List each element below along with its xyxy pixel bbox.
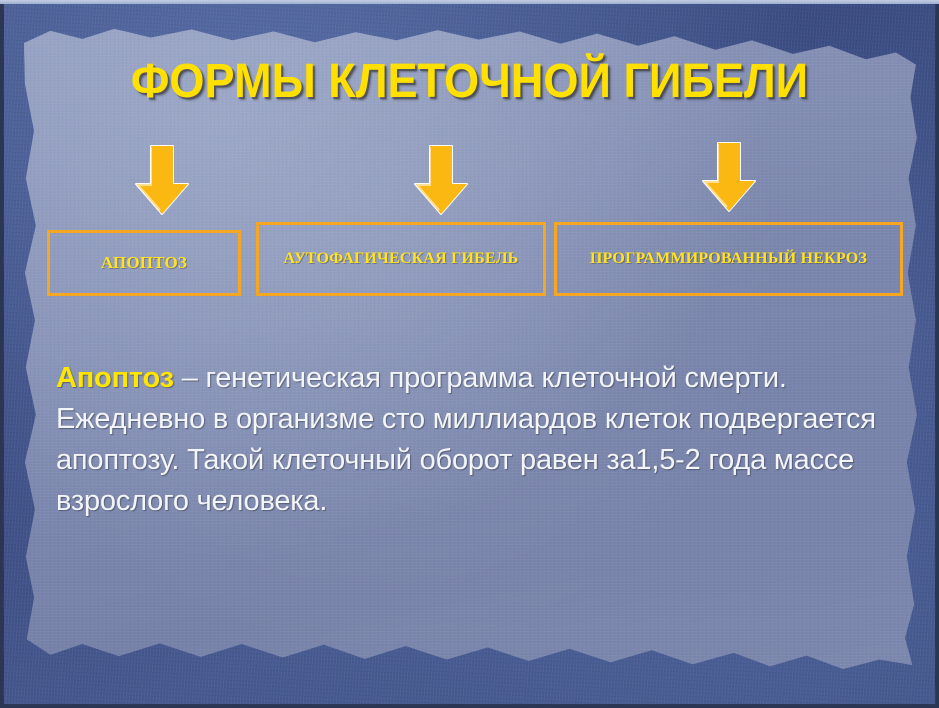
category-box-label-programmed-necrosis: ПРОГРАММИРОВАННЫЙ НЕКРОЗ [590,250,867,269]
slide-content: ФОРМЫ КЛЕТОЧНОЙ ГИБЕЛИ [0,0,939,708]
category-box-label-autophagic-death: АУТОФАГИЧЕСКАЯ ГИБЕЛЬ [284,250,519,269]
arrow-down-icon-apoptosis [132,144,192,216]
arrow-down-icon-autophagic [411,144,471,216]
body-lead-line: Апоптоз – генетическая программа клеточн… [56,358,906,399]
presentation-slide: ФОРМЫ КЛЕТОЧНОЙ ГИБЕЛИ [0,0,939,708]
body-lead-rest: – генетическая программа клеточной смерт… [174,362,787,394]
slide-title: ФОРМЫ КЛЕТОЧНОЙ ГИБЕЛИ [28,58,911,106]
body-text-block: Апоптоз – генетическая программа клеточн… [56,358,906,522]
highlighted-term-apoptosis: Апоптоз [56,362,174,394]
category-box-label-apoptosis: АПОПТОЗ [101,253,187,273]
body-paragraph: Ежедневно в организме сто миллиардов кле… [56,399,906,522]
arrow-down-icon-necrosis [699,141,759,213]
category-box-apoptosis[interactable]: АПОПТОЗ [47,230,241,296]
category-box-programmed-necrosis[interactable]: ПРОГРАММИРОВАННЫЙ НЕКРОЗ [554,222,903,296]
category-box-autophagic-death[interactable]: АУТОФАГИЧЕСКАЯ ГИБЕЛЬ [256,222,546,296]
slide-top-strip [0,0,939,4]
